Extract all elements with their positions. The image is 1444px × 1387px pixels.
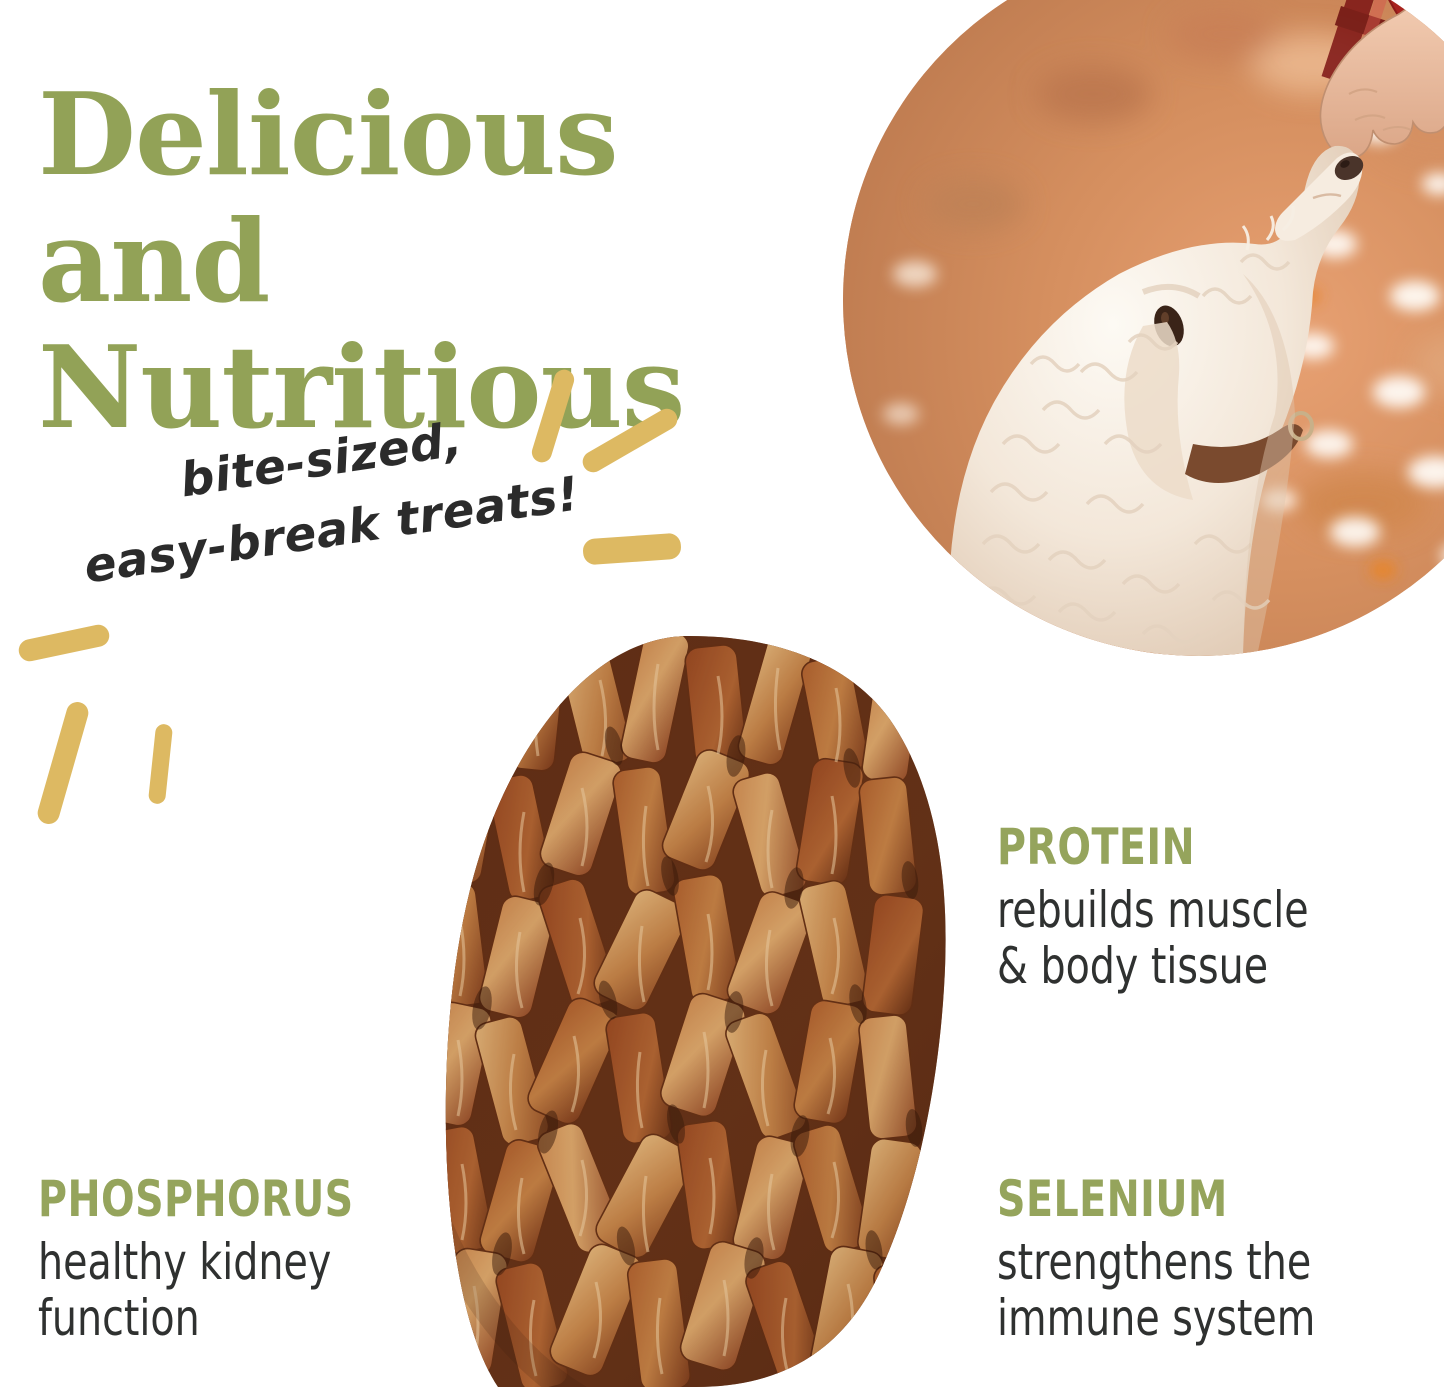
sparkle-stroke-icon <box>35 699 91 826</box>
treat-pile-illustration <box>428 636 968 1387</box>
nutrient-title: SELENIUM <box>997 1174 1315 1224</box>
infographic-canvas: Delicious and Nutritious bite-sized, eas… <box>0 0 1444 1387</box>
nutrient-callout-selenium: SELENIUM strengthens the immune system <box>997 1174 1359 1346</box>
treat-pile-image <box>428 636 968 1387</box>
sparkle-stroke-icon <box>148 723 173 804</box>
nutrient-title: PROTEIN <box>997 822 1309 872</box>
nutrient-benefit: strengthens the immune system <box>997 1234 1315 1346</box>
nutrient-benefit-line-2: function <box>38 1290 354 1346</box>
nutrient-callout-phosphorus: PHOSPHORUS healthy kidney function <box>38 1174 397 1346</box>
dog-photo-illustration <box>843 0 1444 656</box>
nutrient-benefit-line-1: strengthens the <box>997 1234 1315 1290</box>
nutrient-benefit-line-2: immune system <box>997 1290 1315 1346</box>
headline-line-1: Delicious and <box>38 68 618 328</box>
nutrient-benefit: healthy kidney function <box>38 1234 354 1346</box>
nutrient-callout-protein: PROTEIN rebuilds muscle & body tissue <box>997 822 1351 994</box>
nutrient-title: PHOSPHORUS <box>38 1174 354 1224</box>
nutrient-benefit: rebuilds muscle & body tissue <box>997 882 1309 994</box>
nutrient-benefit-line-1: healthy kidney <box>38 1234 354 1290</box>
page-title: Delicious and Nutritious <box>38 72 828 452</box>
dog-photo <box>843 0 1444 656</box>
nutrient-benefit-line-2: & body tissue <box>997 938 1309 994</box>
nutrient-benefit-line-1: rebuilds muscle <box>997 882 1309 938</box>
